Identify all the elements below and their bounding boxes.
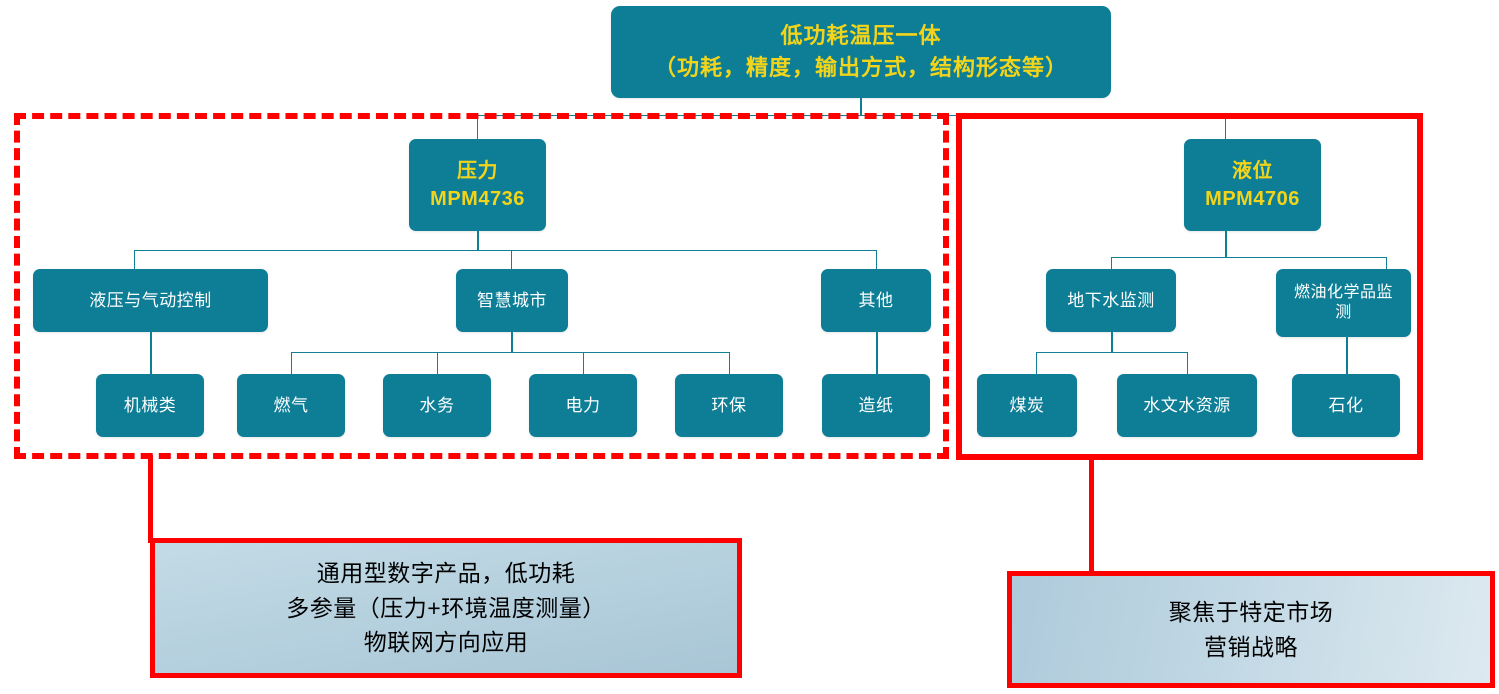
leaf-node-machinery-label: 机械类 xyxy=(124,395,177,416)
branch-node-pressure[interactable]: 压力 MPM4736 xyxy=(409,139,546,231)
callout-level-line1: 聚焦于特定市场 xyxy=(1169,595,1334,630)
connector-smartcity-to-environment xyxy=(729,352,730,374)
connector-pressure-to-smartcity xyxy=(511,250,512,269)
connector-pressure-to-other xyxy=(876,250,877,269)
leader-line-pressure-callout xyxy=(148,455,153,543)
node-fuel-chemical-monitoring-label-line1: 燃油化学品监 xyxy=(1294,283,1393,303)
leaf-node-power[interactable]: 电力 xyxy=(529,374,637,437)
leaf-node-hydrology-water-resources-label: 水文水资源 xyxy=(1143,395,1231,416)
leaf-node-water-affairs-label: 水务 xyxy=(420,395,455,416)
connector-root-bar xyxy=(477,115,1226,116)
leaf-node-petrochemical[interactable]: 石化 xyxy=(1292,374,1400,437)
root-node-line1: 低功耗温压一体 xyxy=(654,20,1068,52)
leaf-node-power-label: 电力 xyxy=(566,395,601,416)
leaf-node-coal[interactable]: 煤炭 xyxy=(977,374,1077,437)
node-groundwater-monitoring-label: 地下水监测 xyxy=(1067,290,1155,311)
connector-level-bar xyxy=(1111,257,1386,258)
connector-fuel-chemical-to-petrochemical xyxy=(1346,337,1348,374)
leaf-node-machinery[interactable]: 机械类 xyxy=(96,374,204,437)
root-node[interactable]: 低功耗温压一体 （功耗，精度，输出方式，结构形态等） xyxy=(611,6,1111,98)
connector-root-to-level xyxy=(1225,115,1226,142)
leaf-node-environment[interactable]: 环保 xyxy=(675,374,783,437)
node-other-label: 其他 xyxy=(859,290,894,311)
connector-smartcity-bar xyxy=(291,352,729,353)
connector-other-to-paper xyxy=(876,332,878,374)
connector-level-trunk xyxy=(1225,231,1227,257)
callout-pressure[interactable]: 通用型数字产品，低功耗 多参量（压力+环境温度测量） 物联网方向应用 xyxy=(150,538,742,678)
node-groundwater-monitoring[interactable]: 地下水监测 xyxy=(1046,269,1176,332)
leaf-node-hydrology-water-resources[interactable]: 水文水资源 xyxy=(1117,374,1257,437)
connector-root-to-pressure xyxy=(477,115,478,142)
connector-groundwater-to-hydrology xyxy=(1187,352,1188,374)
callout-level-line2: 营销战略 xyxy=(1169,630,1334,665)
connector-groundwater-bar xyxy=(1036,352,1187,353)
leaf-node-paper[interactable]: 造纸 xyxy=(822,374,930,437)
callout-level[interactable]: 聚焦于特定市场 营销战略 xyxy=(1007,571,1495,688)
node-hydraulic-pneumatic-control-label: 液压与气动控制 xyxy=(89,290,212,311)
callout-pressure-line3: 物联网方向应用 xyxy=(286,625,605,660)
connector-groundwater-to-coal xyxy=(1036,352,1037,374)
leaf-node-environment-label: 环保 xyxy=(712,395,747,416)
connector-smartcity-to-gas xyxy=(291,352,292,374)
leaf-node-paper-label: 造纸 xyxy=(859,395,894,416)
branch-node-level-title: 液位 xyxy=(1205,157,1300,185)
leaf-node-coal-label: 煤炭 xyxy=(1010,395,1045,416)
connector-pressure-trunk xyxy=(477,231,479,250)
connector-smartcity-trunk xyxy=(511,332,513,352)
leaf-node-water-affairs[interactable]: 水务 xyxy=(383,374,491,437)
callout-pressure-line1: 通用型数字产品，低功耗 xyxy=(286,556,605,591)
connector-hydraulic-to-machinery xyxy=(150,332,152,374)
branch-node-level-model: MPM4706 xyxy=(1205,185,1300,213)
connector-pressure-to-hydraulic xyxy=(134,250,135,269)
connector-smartcity-to-water xyxy=(437,352,438,374)
leaf-node-petrochemical-label: 石化 xyxy=(1329,395,1364,416)
leaf-node-gas-label: 燃气 xyxy=(274,395,309,416)
connector-root-trunk xyxy=(860,98,862,115)
branch-node-level[interactable]: 液位 MPM4706 xyxy=(1184,139,1321,231)
leaf-node-gas[interactable]: 燃气 xyxy=(237,374,345,437)
connector-level-to-fuel-chemical xyxy=(1386,257,1387,269)
leader-line-level-callout xyxy=(1089,457,1094,576)
root-node-line2: （功耗，精度，输出方式，结构形态等） xyxy=(654,52,1068,84)
callout-pressure-line2: 多参量（压力+环境温度测量） xyxy=(286,591,605,626)
connector-groundwater-trunk xyxy=(1111,332,1113,352)
branch-node-pressure-model: MPM4736 xyxy=(430,185,525,213)
node-smart-city-label: 智慧城市 xyxy=(477,290,547,311)
node-smart-city[interactable]: 智慧城市 xyxy=(456,269,568,332)
connector-pressure-bar xyxy=(134,250,876,251)
node-hydraulic-pneumatic-control[interactable]: 液压与气动控制 xyxy=(33,269,268,332)
node-fuel-chemical-monitoring[interactable]: 燃油化学品监 测 xyxy=(1276,269,1411,337)
diagram-canvas: 低功耗温压一体 （功耗，精度，输出方式，结构形态等） 压力 MPM4736 液位… xyxy=(0,0,1499,694)
node-fuel-chemical-monitoring-label-line2: 测 xyxy=(1294,303,1393,323)
branch-node-pressure-title: 压力 xyxy=(430,157,525,185)
connector-level-to-groundwater xyxy=(1111,257,1112,269)
node-other[interactable]: 其他 xyxy=(821,269,931,332)
connector-smartcity-to-power xyxy=(583,352,584,374)
